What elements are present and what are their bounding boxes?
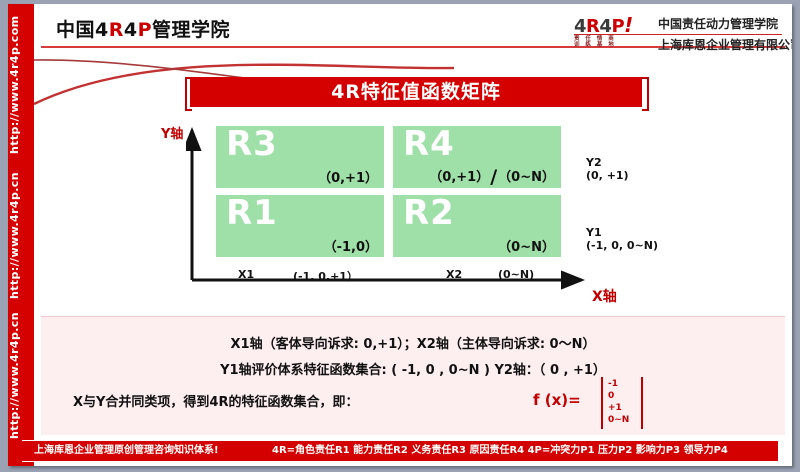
- quadrant-r1-value: （-1,0）: [324, 236, 378, 255]
- y1-note: Y1 (-1, 0, 0~N): [586, 226, 658, 252]
- y-axis-label: Y轴: [161, 123, 183, 142]
- sidebar-url-2[interactable]: http://www.4r4p.cn: [8, 304, 34, 439]
- footer-left-text: 上海库恩企业管理原创管理咨询知识体系!: [34, 441, 219, 461]
- x1-tick-value: (-1, 0,+1）: [293, 268, 358, 284]
- footer-bar: 上海库恩企业管理原创管理咨询知识体系! 4R=角色责任R1 能力责任R2 义务责…: [22, 440, 778, 462]
- sidebar-url-1[interactable]: http://www.4r4p.cn: [8, 164, 34, 299]
- sidebar-url-bar: http://www.4r4p.com http://www.4r4p.cn h…: [8, 4, 35, 466]
- y2-note: Y2 (0, +1): [586, 156, 629, 182]
- fx-matrix-value-0: -1: [608, 378, 629, 390]
- fx-matrix: -1 0 +1 0~N: [601, 377, 643, 429]
- banner: 4R特征值函数矩阵: [190, 77, 642, 107]
- banner-cap-right: [642, 77, 649, 111]
- footer-right-text: 4R=角色责任R1 能力责任R2 义务责任R3 原因责任R4 4P=冲突力P1 …: [272, 441, 728, 461]
- page-title-p: P: [138, 19, 152, 41]
- logo-company-name: 上海库恩企业管理有限公司: [658, 36, 792, 53]
- y2-note-name: Y2: [586, 156, 629, 169]
- fx-matrix-value-3: 0~N: [608, 414, 629, 426]
- explanation-line-2: Y1轴评价体系特征函数集合: ( -1, 0 , 0~N ) Y2轴：（ 0 ,…: [41, 359, 785, 378]
- quadrant-r4[interactable]: R4 （0,+1）/（0~N）: [393, 126, 561, 188]
- fx-matrix-value-2: +1: [608, 402, 629, 414]
- page-title: 中国4R4P管理学院: [56, 15, 230, 42]
- y1-note-name: Y1: [586, 226, 658, 239]
- quadrant-r3-name: R3: [226, 124, 278, 164]
- page-title-pre: 中国4: [56, 19, 109, 41]
- quadrant-r2-value: （0~N）: [498, 236, 555, 255]
- slide-canvas: http://www.4r4p.com http://www.4r4p.cn h…: [8, 4, 792, 466]
- quadrant-r4-value-b: （0~N）: [498, 170, 555, 185]
- quadrant-r2-name: R2: [403, 193, 455, 233]
- logo-divider: [574, 34, 782, 35]
- quadrant-r1[interactable]: R1 （-1,0）: [216, 195, 384, 257]
- page-title-r: R: [109, 19, 124, 41]
- quadrant-r1-name: R1: [226, 193, 278, 233]
- quadrant-r4-value-a: （0,+1）: [429, 170, 489, 185]
- quadrant-r4-separator: /: [489, 166, 498, 188]
- y2-note-value: (0, +1): [586, 169, 629, 182]
- x1-tick-name: X1: [238, 268, 254, 281]
- y1-note-value: (-1, 0, 0~N): [586, 239, 658, 252]
- x2-tick-name: X2: [446, 268, 462, 281]
- explanation-panel: X1轴（客体导向诉求: 0,+1）；X2轴（主体导向诉求: 0～N） Y1轴评价…: [41, 316, 785, 435]
- logo-institute-name: 中国责任动力管理学院: [658, 15, 778, 32]
- quadrant-r4-value: （0,+1）/（0~N）: [429, 164, 555, 186]
- fx-matrix-value-1: 0: [608, 390, 629, 402]
- quadrant-r3-value: （0,+1）: [318, 167, 378, 186]
- logo-tagline-line2: 训 练 基 地: [574, 42, 650, 48]
- explanation-line-1: X1轴（客体导向诉求: 0,+1）；X2轴（主体导向诉求: 0～N）: [41, 333, 785, 352]
- page-title-mid: 4: [124, 19, 138, 41]
- banner-title: 4R特征值函数矩阵: [190, 77, 642, 107]
- logo-tagline: 责 任 情 商 训 练 基 地: [574, 36, 650, 48]
- page-title-post: 管理学院: [152, 19, 230, 41]
- quadrant-r2[interactable]: R2 （0~N）: [393, 195, 561, 257]
- quadrant-r4-name: R4: [403, 124, 455, 164]
- brand-logo: 4R4P! 中国责任动力管理学院 责 任 情 商 训 练 基 地 上海库恩企业管…: [574, 13, 786, 47]
- x2-tick-value: (0~N): [498, 268, 534, 281]
- quadrant-r3[interactable]: R3 （0,+1）: [216, 126, 384, 188]
- sidebar-url-0[interactable]: http://www.4r4p.com: [8, 14, 34, 154]
- fx-label: f (x)=: [533, 391, 581, 409]
